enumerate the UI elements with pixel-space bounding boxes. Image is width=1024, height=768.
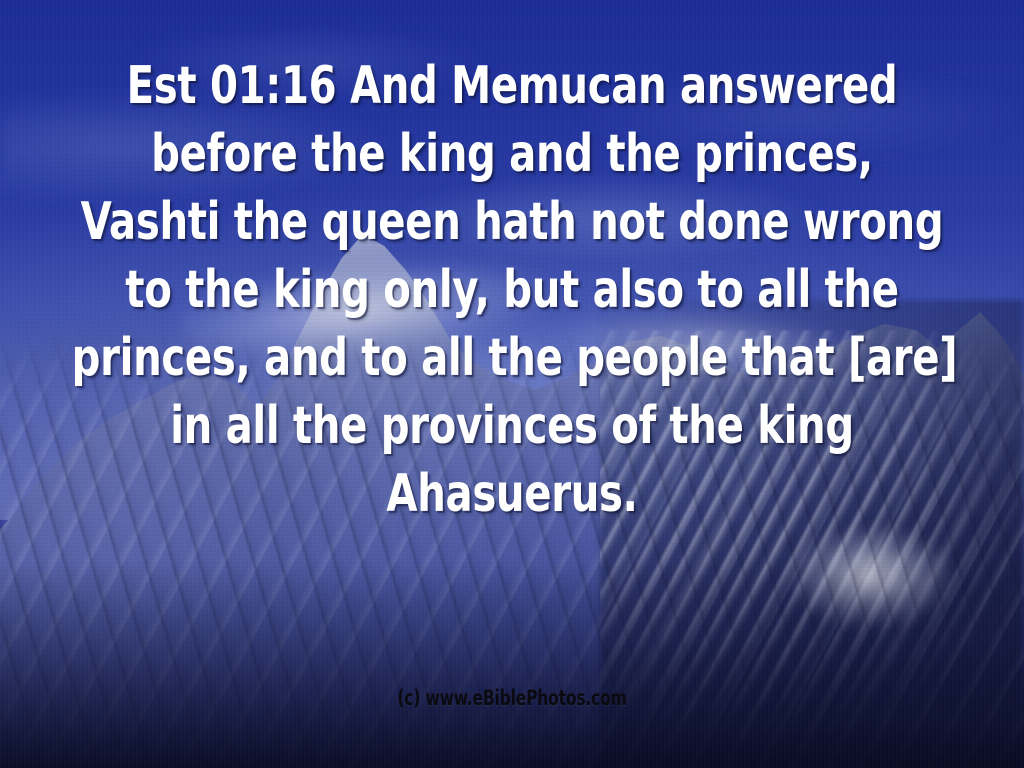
copyright-watermark: (c) www.eBiblePhotos.com bbox=[92, 686, 932, 710]
foreground-shadow bbox=[0, 560, 1024, 768]
mountain-photograph bbox=[0, 0, 1024, 768]
verse-image-canvas: Est 01:16 And Memucan answered before th… bbox=[0, 0, 1024, 768]
